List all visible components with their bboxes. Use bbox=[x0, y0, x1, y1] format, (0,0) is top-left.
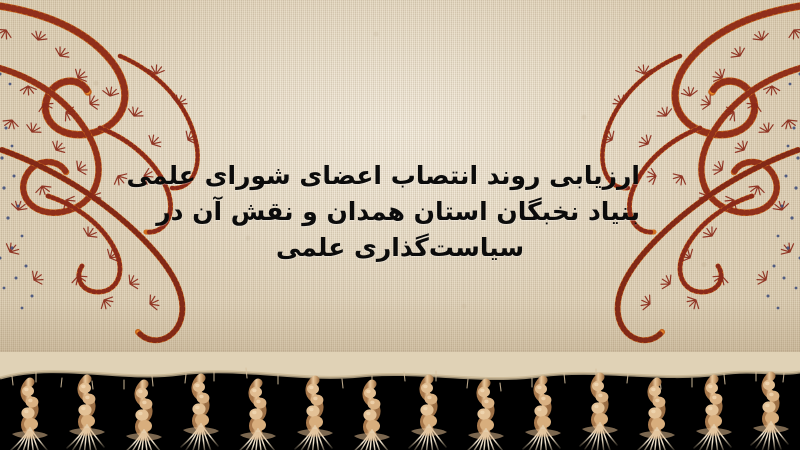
title-line-2: بنیاد نخبگان استان همدان و نقش آن در bbox=[160, 194, 640, 230]
slide-title: ارزیابی روند انتصاب اعضای شورای علمی بنی… bbox=[160, 158, 640, 266]
title-line-3: سیاست‌گذاری علمی bbox=[160, 230, 640, 266]
title-line-1: ارزیابی روند انتصاب اعضای شورای علمی bbox=[160, 158, 640, 194]
slide-canvas: ارزیابی روند انتصاب اعضای شورای علمی بنی… bbox=[0, 0, 800, 450]
tassel-fringe bbox=[0, 352, 800, 450]
